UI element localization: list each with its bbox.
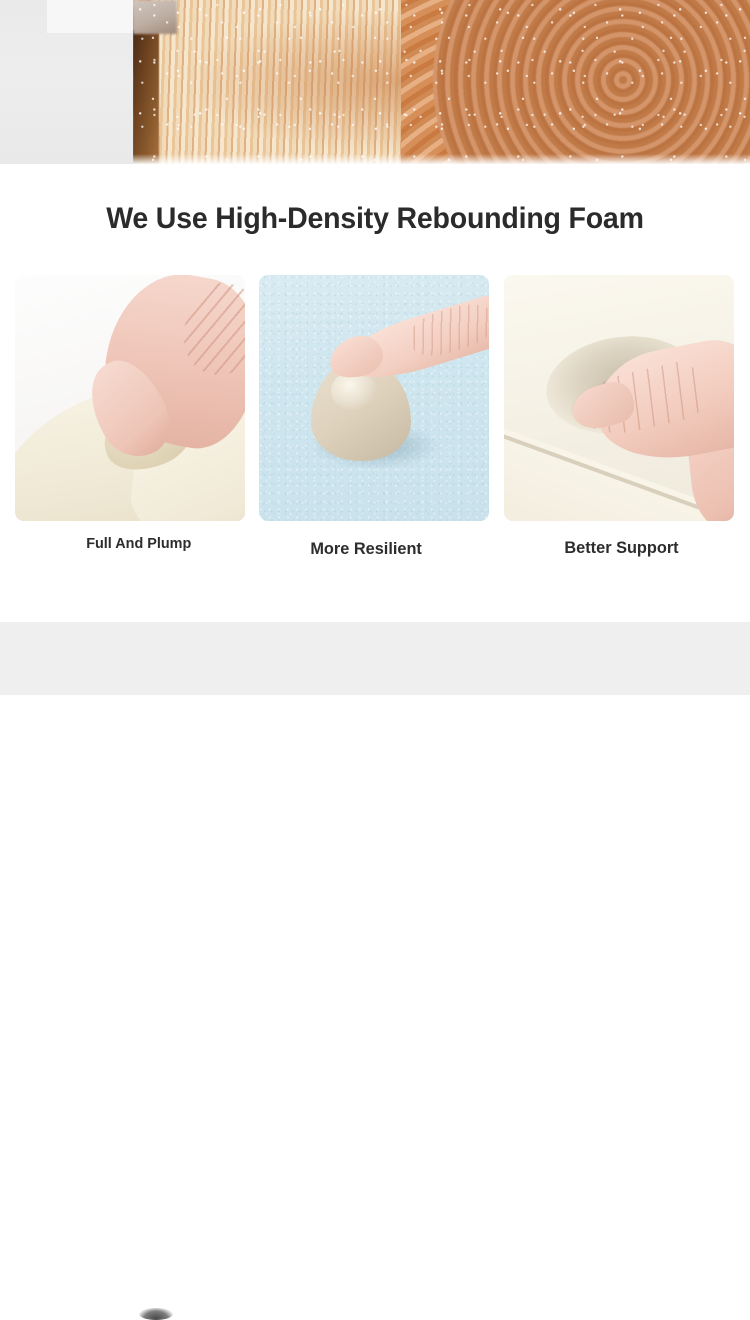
banner-white-overlay-card xyxy=(47,0,133,33)
wood-cross-section-banner xyxy=(0,0,750,164)
wood-photo xyxy=(133,0,750,164)
card-caption-better-support: Better Support xyxy=(564,538,678,558)
product-detail-page: We Use High-Density Rebounding Foam Ful xyxy=(0,0,750,695)
card-caption-more-resilient: More Resilient xyxy=(310,539,422,559)
card-caption-full-and-plump: Full And Plump xyxy=(86,535,191,552)
feature-card-full-and-plump[interactable] xyxy=(15,275,245,521)
next-section-strip xyxy=(0,622,750,695)
next-section-object-peek xyxy=(139,1308,173,1320)
section-heading: We Use High-Density Rebounding Foam xyxy=(19,202,732,236)
banner-bottom-fade xyxy=(133,154,750,164)
feature-card-more-resilient[interactable] xyxy=(259,275,489,521)
feature-card-better-support[interactable] xyxy=(504,275,734,521)
wood-sawdust-speckle xyxy=(133,0,750,164)
